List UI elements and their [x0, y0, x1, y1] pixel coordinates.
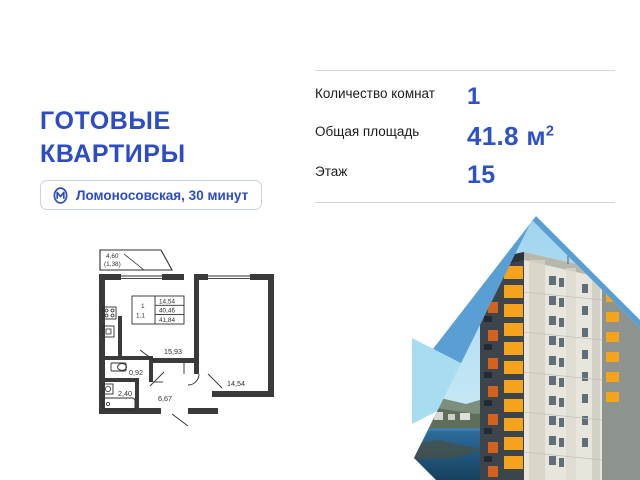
floorplan-info-badge: 1 1.1 14,54 40,46 41,84: [132, 296, 184, 324]
spec-value-floor-text: 15: [467, 161, 495, 189]
floorplan-area-bathroom: 2,40: [118, 389, 132, 398]
floorplan-badge-flatno: 1.1: [136, 313, 145, 320]
metro-station-label: Ломоносовская, 30 минут: [76, 188, 248, 203]
spec-row-area: Общая площадь 41.8 м2: [315, 123, 615, 149]
floorplan-balcony-area: (1,38): [104, 261, 121, 268]
spec-label-floor: Этаж: [315, 163, 467, 180]
floorplan-badge-area-total: 41,84: [159, 317, 175, 324]
floorplan-area-hall: 6,67: [158, 394, 172, 403]
spec-label-area: Общая площадь: [315, 123, 467, 140]
floorplan-badge-area-without: 40,46: [159, 308, 175, 315]
building-photo-block: [396, 214, 640, 480]
floorplan-area-bedroom: 14,54: [227, 379, 245, 388]
page-title-line-2: КВАРТИРЫ: [40, 138, 310, 171]
metro-logo-icon: [52, 187, 69, 204]
floorplan-badge-living: 14,54: [159, 298, 175, 305]
floorplan-balcony-length: 4,60: [106, 253, 119, 260]
metro-station-badge[interactable]: Ломоносовская, 30 минут: [40, 180, 262, 210]
floorplan-area-wc: 0,92: [129, 368, 143, 377]
spec-value-area-text: 41.8 м: [467, 121, 546, 151]
page-title-line-1: ГОТОВЫЕ: [40, 105, 310, 138]
spec-value-area: 41.8 м2: [467, 123, 554, 149]
spec-row-floor: Этаж 15: [315, 163, 615, 188]
spec-label-rooms: Количество комнат: [315, 85, 467, 102]
page-title: ГОТОВЫЕ КВАРТИРЫ: [40, 105, 310, 170]
spec-value-rooms-text: 1: [467, 83, 481, 110]
floor-plan: 4,60 (1,38) 1 1.1 14,54 40,46 41,84 15,9…: [88, 246, 288, 426]
spec-value-rooms: 1: [467, 85, 481, 109]
building-photo: [396, 214, 640, 480]
specs-divider-bottom: [315, 202, 615, 203]
spec-value-floor: 15: [467, 163, 495, 188]
spec-value-area-unit: 2: [546, 123, 554, 139]
spec-row-rooms: Количество комнат 1: [315, 85, 615, 109]
floorplan-badge-rooms: 1: [141, 303, 145, 310]
floorplan-area-kitchen-living: 15,93: [164, 347, 182, 356]
specs-table: Количество комнат 1 Общая площадь 41.8 м…: [315, 70, 615, 203]
